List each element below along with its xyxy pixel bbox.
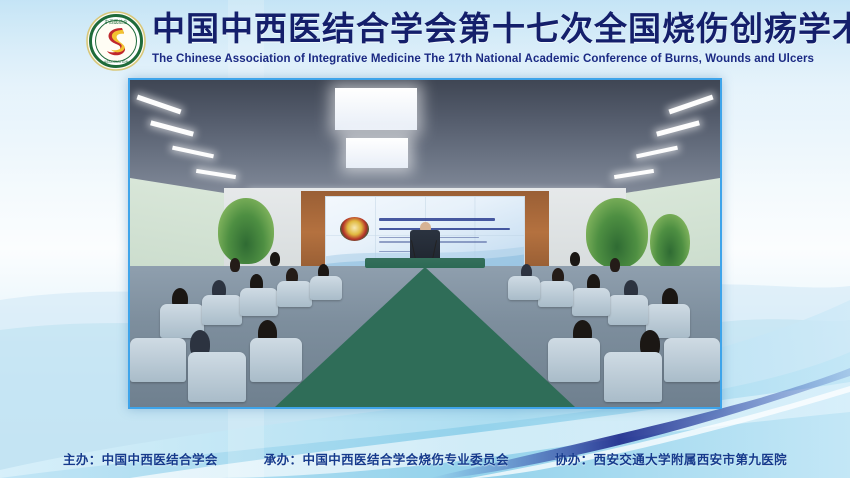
slide-canvas: 中西医结合 ASSOCIATION 中国中西医结合学会第十七次全国烧伤创疡学术会…	[0, 0, 850, 478]
decorative-plant	[218, 198, 274, 264]
audience-chair	[310, 276, 342, 300]
audience-chair	[240, 288, 278, 316]
screen-title-line-1	[379, 218, 494, 221]
page-subtitle-english: The Chinese Association of Integrative M…	[152, 52, 777, 67]
svg-text:ASSOCIATION: ASSOCIATION	[104, 60, 129, 64]
organizer-credits: 主办：中国中西医结合学会 承办：中国中西医结合学会烧伤专业委员会 协办：西安交通…	[0, 449, 850, 468]
conference-hall-photo: 中国中西医结合学会 第十七次全国烧伤创疡学术会议	[128, 78, 722, 409]
attendee	[610, 258, 620, 272]
audience-chair	[548, 338, 600, 382]
decorative-plant	[586, 198, 648, 268]
audience-chair	[277, 281, 312, 307]
decorative-plant	[650, 214, 690, 268]
audience-chair	[508, 276, 540, 300]
slide-footer: 主办：中国中西医结合学会 承办：中国中西医结合学会烧伤专业委员会 协办：西安交通…	[0, 408, 850, 478]
audience-chair	[130, 338, 186, 382]
audience-chair	[604, 352, 662, 402]
audience-chair	[202, 295, 242, 325]
slide-header: 中西医结合 ASSOCIATION 中国中西医结合学会第十七次全国烧伤创疡学术会…	[0, 0, 850, 78]
page-title: 中国中西医结合学会第十七次全国烧伤创疡学术会议	[152, 8, 772, 50]
attendee	[230, 258, 240, 272]
screen-title-line-2	[379, 228, 510, 231]
audience-chair	[572, 288, 610, 316]
attendee	[270, 252, 280, 266]
audience-chair	[188, 352, 246, 402]
audience-chair	[664, 338, 720, 382]
svg-text:中西医结合: 中西医结合	[105, 19, 128, 26]
audience-chair	[538, 281, 573, 307]
association-emblem-logo: 中西医结合 ASSOCIATION	[86, 11, 146, 71]
audience-chair	[608, 295, 648, 325]
audience-chair	[250, 338, 302, 382]
credit-organizer: 承办：中国中西医结合学会烧伤专业委员会	[264, 449, 509, 468]
ceiling-light-panel	[335, 88, 417, 130]
ceiling-light-panel	[346, 138, 408, 168]
photo-content: 中国中西医结合学会 第十七次全国烧伤创疡学术会议	[130, 80, 720, 407]
credit-host: 主办：中国中西医结合学会	[63, 449, 218, 468]
credit-co-organizer: 协办：西安交通大学附属西安市第九医院	[555, 449, 787, 468]
attendee	[570, 252, 580, 266]
